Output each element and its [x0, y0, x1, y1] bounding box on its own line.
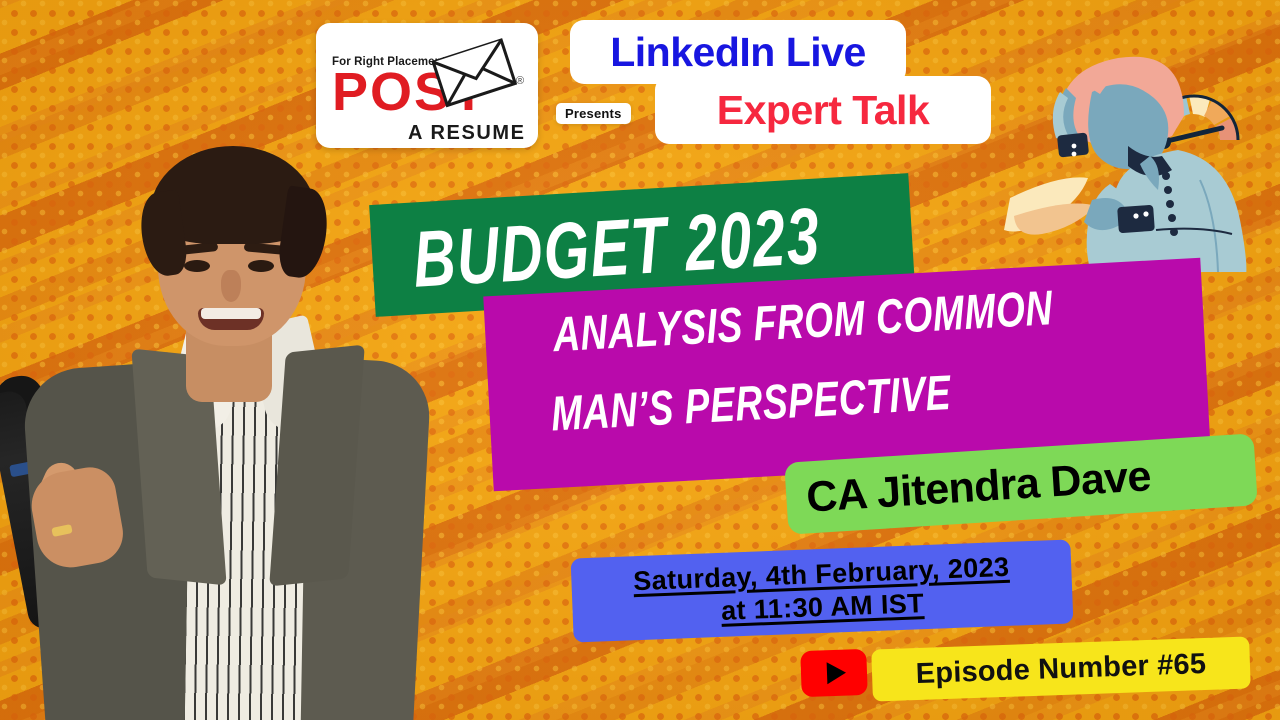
linkedin-live-card: LinkedIn Live [570, 20, 906, 84]
mouth [198, 308, 264, 330]
brand-subline: A RESUME [408, 122, 526, 145]
expert-talk-card: Expert Talk [655, 76, 991, 144]
presents-badge: Presents [556, 103, 631, 124]
poster-canvas: For Right Placement POST A RESUME ® Pres… [0, 0, 1280, 720]
stressed-person-illustration [1000, 30, 1262, 272]
expert-talk-label: Expert Talk [717, 87, 930, 134]
brand-logo-card: For Right Placement POST A RESUME ® [316, 23, 538, 148]
episode-label: Episode Number #65 [915, 647, 1206, 690]
schedule-time: at 11:30 AM IST [721, 588, 925, 627]
speaker-photo [0, 140, 420, 720]
teeth [201, 308, 261, 319]
cuff-lower [1117, 205, 1155, 233]
linkedin-live-label: LinkedIn Live [610, 29, 866, 76]
schedule-date: Saturday, 4th February, 2023 [633, 552, 1010, 597]
youtube-play-icon[interactable] [800, 649, 868, 697]
eye-right [248, 260, 274, 272]
eye-left [184, 260, 210, 272]
play-triangle [826, 662, 846, 685]
envelope-icon [430, 35, 519, 110]
nose [221, 270, 241, 302]
